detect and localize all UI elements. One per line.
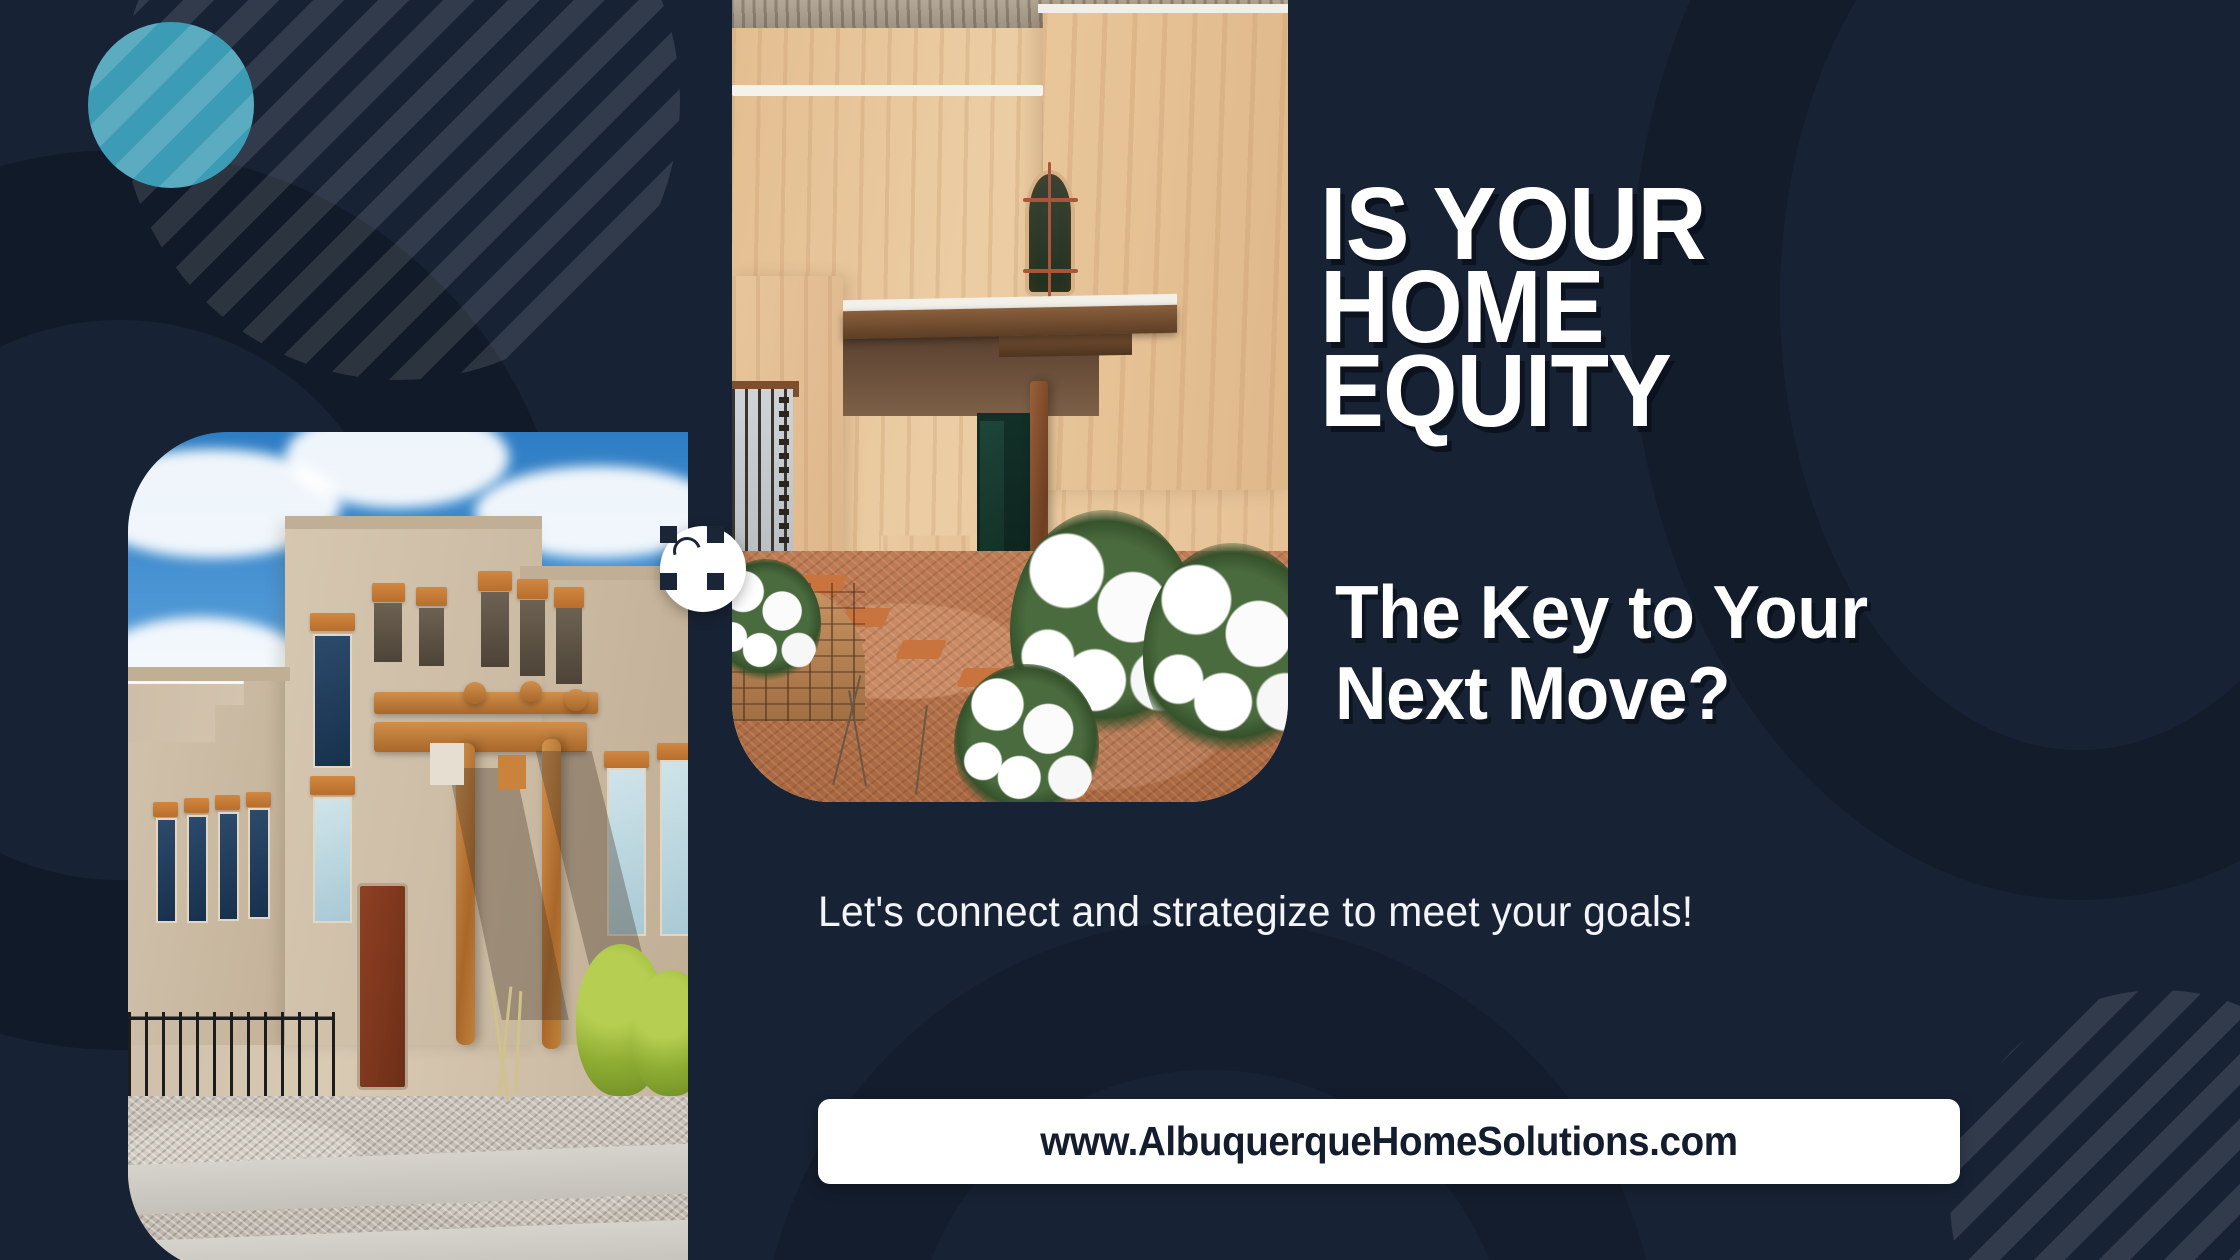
- promotional-poster: IS YOUR HOME EQUITY The Key to Your Next…: [0, 0, 2240, 1260]
- ring-right-decoration: [1630, 0, 2240, 900]
- teal-circle-decoration: [88, 22, 254, 188]
- photo-adobe-pueblo-home-in-snow: [732, 0, 1288, 802]
- subheadline-line-2: Next Move?: [1335, 653, 2152, 734]
- badge-square-4: [707, 573, 724, 590]
- photo-southwestern-stucco-home: [128, 432, 688, 1260]
- striped-circle-bottom-right-decoration: [1950, 990, 2240, 1260]
- website-url-text: www.AlbuquerqueHomeSolutions.com: [1040, 1118, 1737, 1165]
- badge-square-2: [707, 526, 724, 543]
- headline-line-3: EQUITY: [1320, 349, 2083, 432]
- website-url-bar[interactable]: www.AlbuquerqueHomeSolutions.com: [818, 1099, 1960, 1184]
- headline: IS YOUR HOME EQUITY: [1320, 182, 2083, 432]
- badge-square-3: [660, 573, 677, 590]
- badge-square-1: [660, 526, 677, 543]
- subheadline-line-1: The Key to Your: [1335, 572, 2152, 653]
- subheadline: The Key to Your Next Move?: [1335, 572, 2152, 734]
- window-grid-badge: [660, 526, 746, 612]
- tagline: Let's connect and strategize to meet you…: [818, 888, 1882, 937]
- striped-circle-top-left-decoration: [120, 0, 680, 380]
- ring-bottom-decoration: [760, 920, 1660, 1260]
